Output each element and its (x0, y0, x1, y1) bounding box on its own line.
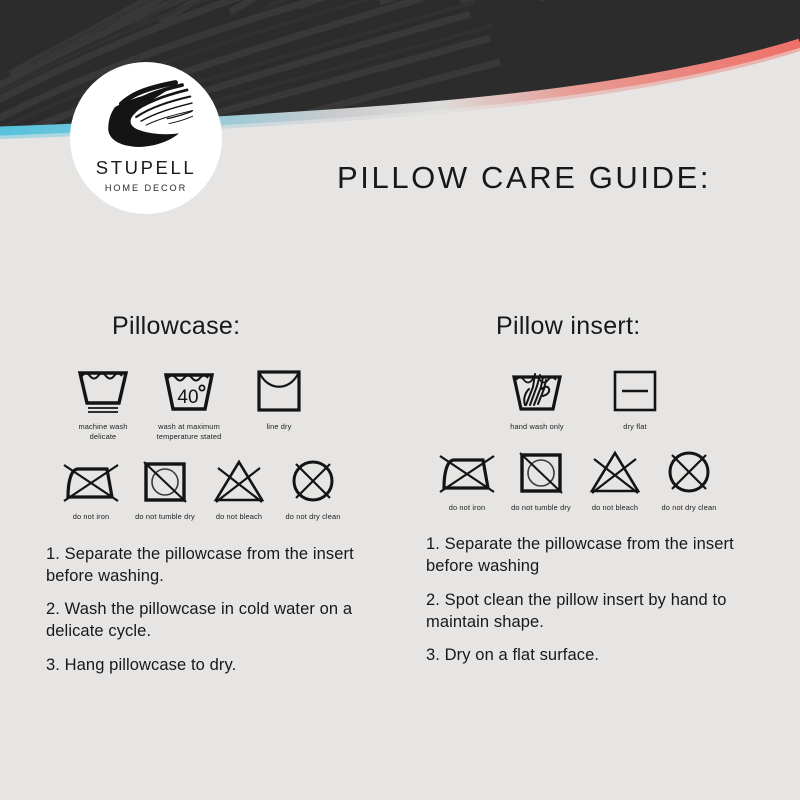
symbol-caption: do not tumble dry (511, 503, 571, 513)
pillow-care-guide-page: STUPELL HOME DECOR PILLOW CARE GUIDE: Pi… (0, 0, 800, 800)
do-not-iron-icon (436, 444, 498, 498)
pillowcase-heading: Pillowcase: (38, 312, 398, 341)
symbol-caption: do not dry clean (662, 503, 717, 513)
pillow-insert-column: Pillow insert: (418, 312, 783, 667)
symbol-do-not-dry-clean: do not dry clean (652, 444, 726, 513)
symbol-machine-wash-delicate: machine wash delicate (66, 363, 140, 441)
do-not-tumble-dry-icon (513, 444, 569, 498)
symbol-do-not-iron: do not iron (54, 453, 128, 522)
pillowcase-symbol-grid: machine wash delicate 40 wash at maximum… (38, 363, 398, 522)
symbol-hand-wash-only: hand wash only (500, 363, 574, 432)
symbol-caption: line dry (266, 422, 291, 432)
symbol-caption: do not dry clean (286, 512, 341, 522)
dry-flat-icon (609, 363, 661, 417)
symbol-row: do not iron do not tumble dry (38, 453, 398, 522)
symbol-row: do not iron do not tumble dry (418, 444, 783, 513)
symbol-caption: do not iron (449, 503, 486, 513)
do-not-bleach-icon (210, 453, 268, 507)
symbol-caption: do not bleach (592, 503, 638, 513)
stupell-swoosh-logo-icon (96, 76, 196, 158)
symbol-caption: do not bleach (216, 512, 262, 522)
symbol-row: machine wash delicate 40 wash at maximum… (38, 363, 398, 441)
wash-40-degrees-icon: 40 (161, 363, 217, 417)
symbol-caption: machine wash delicate (78, 422, 127, 441)
line-dry-icon (253, 363, 305, 417)
symbol-do-not-bleach: do not bleach (202, 453, 276, 522)
symbol-do-not-tumble-dry: do not tumble dry (128, 453, 202, 522)
symbol-do-not-bleach: do not bleach (578, 444, 652, 513)
symbol-caption: do not tumble dry (135, 512, 195, 522)
pillow-insert-heading: Pillow insert: (418, 312, 783, 341)
instruction-step: 3. Hang pillowcase to dry. (46, 655, 398, 677)
pillowcase-column: Pillowcase: machine wash delicate (38, 312, 398, 677)
pillow-insert-symbol-grid: hand wash only dry flat (418, 363, 783, 512)
symbol-caption: hand wash only (510, 422, 563, 432)
symbol-line-dry: line dry (242, 363, 316, 441)
do-not-bleach-icon (586, 444, 644, 498)
symbol-caption: dry flat (623, 422, 646, 432)
symbol-dry-flat: dry flat (598, 363, 672, 432)
pillowcase-instructions: 1. Separate the pillowcase from the inse… (38, 544, 398, 677)
instruction-step: 1. Separate the pillowcase from the inse… (426, 534, 783, 578)
instruction-step: 2. Spot clean the pillow insert by hand … (426, 590, 783, 634)
do-not-dry-clean-icon (661, 444, 717, 498)
svg-text:40: 40 (177, 387, 198, 408)
symbol-caption: wash at maximum temperature stated (157, 422, 222, 441)
instruction-step: 3. Dry on a flat surface. (426, 645, 783, 667)
brand-logo-badge: STUPELL HOME DECOR (70, 62, 222, 214)
symbol-caption: do not iron (73, 512, 110, 522)
machine-wash-delicate-icon (75, 363, 131, 417)
hand-wash-only-icon (509, 363, 565, 417)
symbol-do-not-iron: do not iron (430, 444, 504, 513)
brand-tagline: HOME DECOR (105, 184, 187, 193)
do-not-dry-clean-icon (285, 453, 341, 507)
do-not-iron-icon (60, 453, 122, 507)
symbol-row: hand wash only dry flat (418, 363, 783, 432)
instruction-step: 1. Separate the pillowcase from the inse… (46, 544, 398, 588)
pillow-insert-instructions: 1. Separate the pillowcase from the inse… (418, 534, 783, 667)
symbol-do-not-tumble-dry: do not tumble dry (504, 444, 578, 513)
symbol-do-not-dry-clean: do not dry clean (276, 453, 350, 522)
do-not-tumble-dry-icon (137, 453, 193, 507)
instruction-step: 2. Wash the pillowcase in cold water on … (46, 599, 398, 643)
symbol-wash-40-degrees: 40 wash at maximum temperature stated (152, 363, 226, 441)
page-title: PILLOW CARE GUIDE: (337, 160, 711, 196)
brand-name: STUPELL (96, 159, 196, 178)
